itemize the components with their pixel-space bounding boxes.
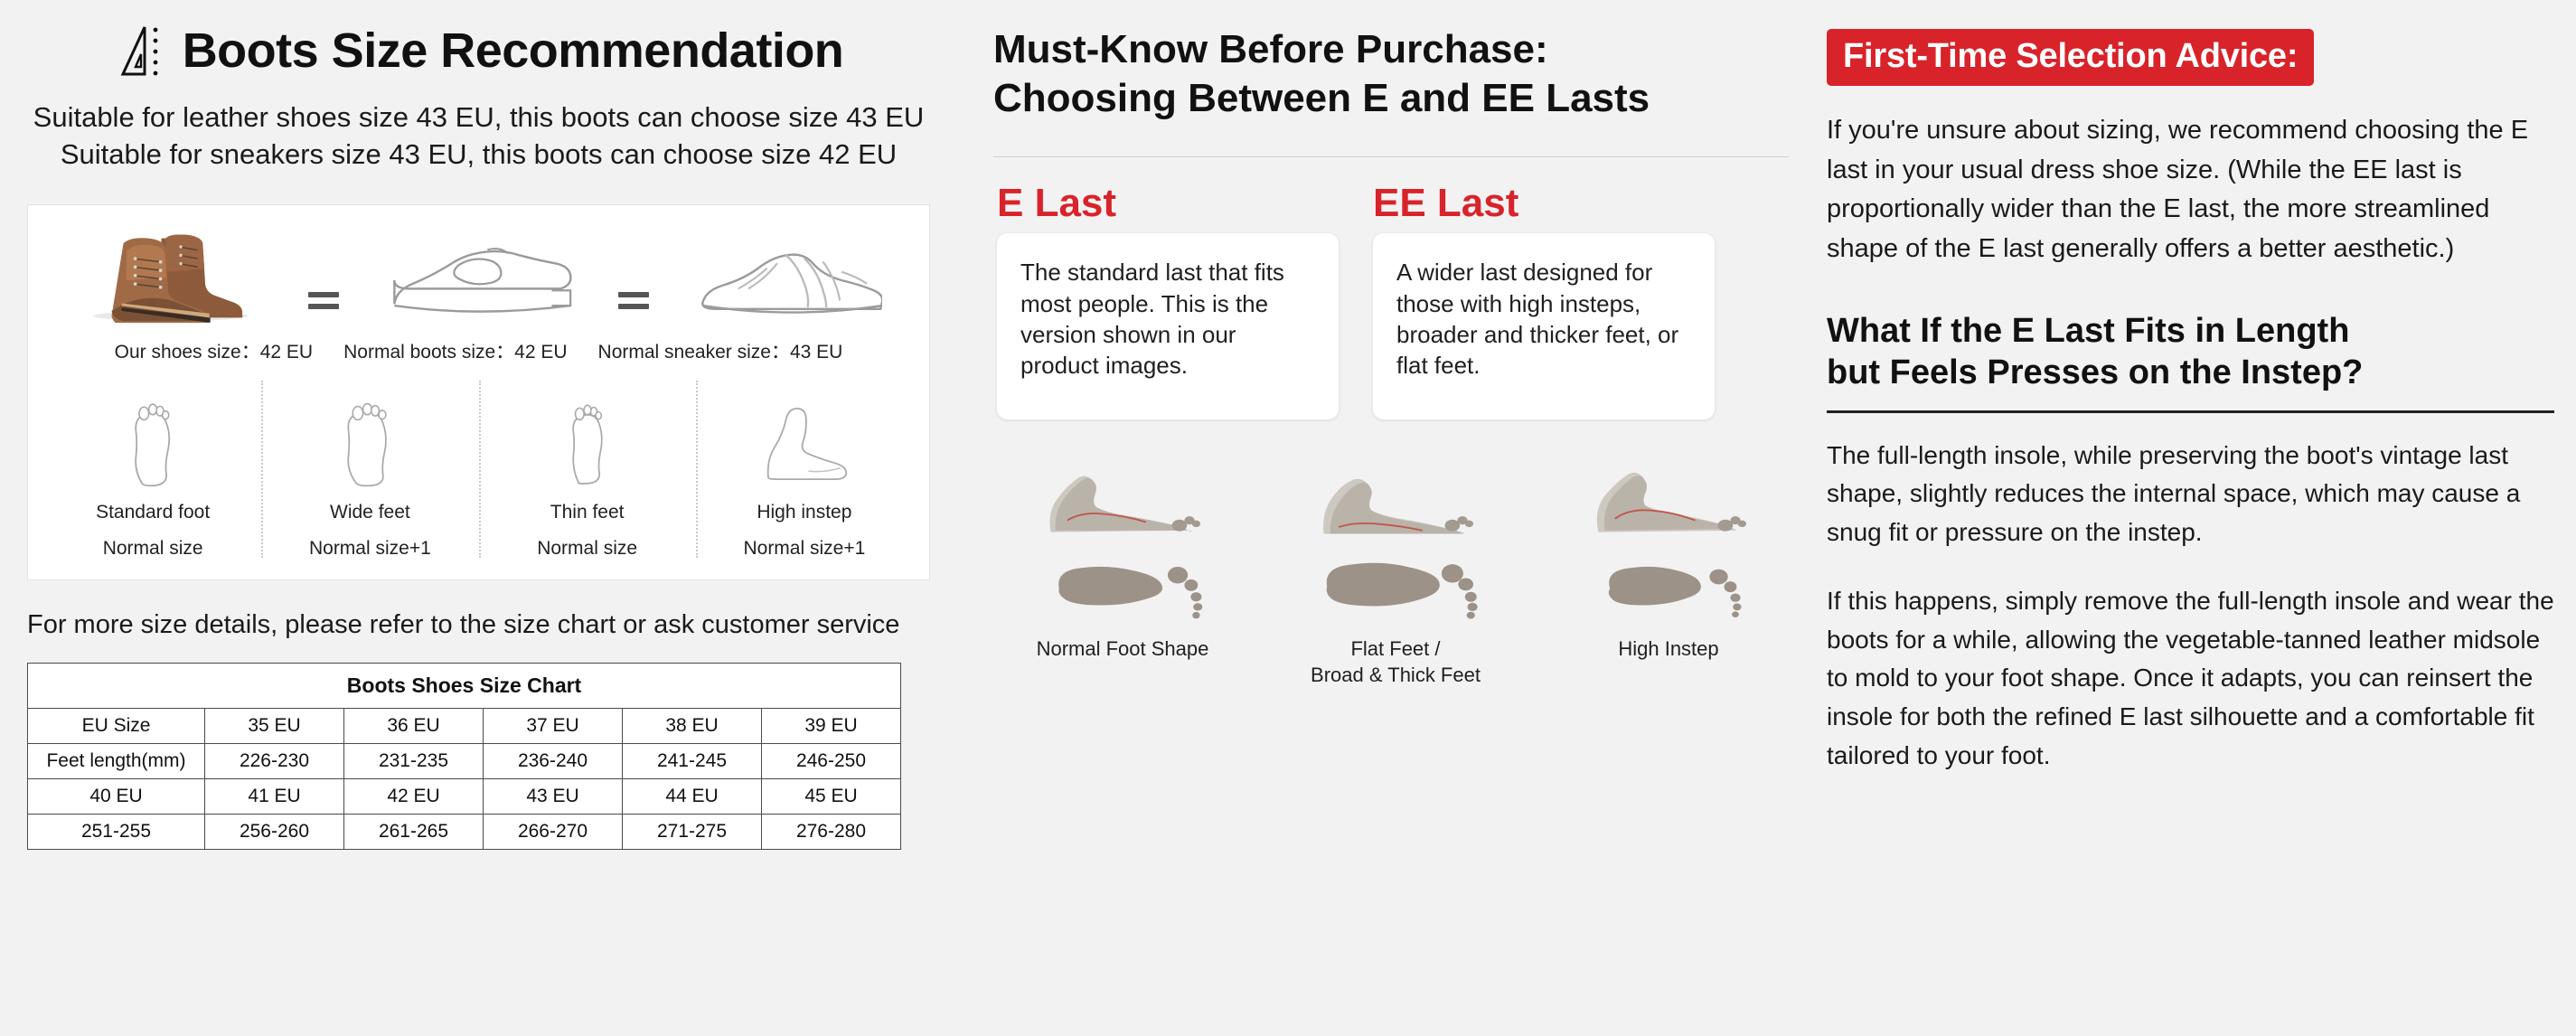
cell-3-0: 251-255 <box>28 815 205 850</box>
cell-2-3: 43 EU <box>484 779 623 815</box>
size-guide-page: Boots Size Recommendation Suitable for l… <box>0 0 2576 1036</box>
cell-1-0: Feet length(mm) <box>28 744 205 779</box>
foot-type-advice-0: Normal size <box>48 538 258 560</box>
shoe-size-caption-1: Normal boots size： <box>343 342 514 363</box>
last-card-e: E Last The standard last that fits most … <box>997 181 1339 419</box>
foot-side-high-instep-icon <box>696 384 913 487</box>
middle-heading-line2: Choosing Between E and EE Lasts <box>993 74 1794 123</box>
ruler-triangle-icon <box>114 22 163 80</box>
foot-sole-high-instep-icon <box>1584 539 1753 622</box>
middle-column: Must-Know Before Purchase: Choosing Betw… <box>981 0 1812 1036</box>
last-comparison-grid: E Last The standard last that fits most … <box>993 181 1794 419</box>
left-header: Boots Size Recommendation <box>13 22 945 80</box>
right-column: First-Time Selection Advice: If you're u… <box>1812 0 2576 1036</box>
size-suggestion-leather: Suitable for leather shoes size 43 EU, t… <box>13 99 945 137</box>
cell-1-5: 246-250 <box>762 744 901 779</box>
equals-sign-1 <box>299 292 348 323</box>
cell-1-1: 226-230 <box>205 744 344 779</box>
status-badge: First-Time Selection Advice: <box>1827 29 2314 86</box>
last-name-e: E Last <box>997 181 1339 226</box>
cell-3-2: 261-265 <box>344 815 484 850</box>
size-suggestion-sneakers: Suitable for sneakers size 43 EU, this b… <box>13 137 945 174</box>
cell-3-3: 266-270 <box>484 815 623 850</box>
cell-2-2: 42 EU <box>344 779 484 815</box>
dress-shoe-outline-icon <box>348 227 610 323</box>
brown-boots-photo <box>37 227 299 323</box>
equals-sign-2 <box>609 292 658 323</box>
foot-figure-flat: Flat Feet / Broad & Thick Feet <box>1288 472 1503 688</box>
footprint-thin-icon <box>479 384 696 487</box>
foot-type-advice-3: Normal size+1 <box>700 538 909 560</box>
sneaker-outline-icon <box>658 227 920 323</box>
cell-0-2: 36 EU <box>344 709 484 744</box>
cell-0-4: 38 EU <box>623 709 762 744</box>
foot-type-name-0: Standard foot <box>48 502 258 523</box>
table-row: Feet length(mm) 226-230 231-235 236-240 … <box>28 744 901 779</box>
cell-3-4: 271-275 <box>623 815 762 850</box>
instep-heading-line2: but Feels Presses on the Instep? <box>1827 352 2554 393</box>
foot-sole-normal-icon <box>1039 539 1207 622</box>
shoe-size-label-0: Our shoes size：42 EU <box>115 337 313 364</box>
last-description-e: The standard last that fits most people.… <box>1020 257 1315 381</box>
cell-1-3: 236-240 <box>484 744 623 779</box>
instep-question-heading: What If the E Last Fits in Length but Fe… <box>1827 310 2554 394</box>
foot-type-advice-1: Normal size+1 <box>265 538 475 560</box>
table-row: 251-255 256-260 261-265 266-270 271-275 … <box>28 815 901 850</box>
page-title: Boots Size Recommendation <box>183 23 844 79</box>
middle-heading-line1: Must-Know Before Purchase: <box>993 25 1794 74</box>
foot-type-0: Standard foot Normal size <box>44 489 261 560</box>
foot-type-1: Wide feet Normal size+1 <box>261 489 478 560</box>
size-chart-title: Boots Shoes Size Chart <box>28 664 901 709</box>
right-divider <box>1827 410 2554 413</box>
foot-figure-caption-normal: Normal Foot Shape <box>1037 636 1209 663</box>
cell-1-4: 241-245 <box>623 744 762 779</box>
caption-line1-high-instep: High Instep <box>1618 636 1718 663</box>
foot-sole-flat-icon <box>1312 539 1480 622</box>
foot-type-2: Thin feet Normal size <box>479 489 696 560</box>
cell-2-0: 40 EU <box>28 779 205 815</box>
cell-0-3: 37 EU <box>484 709 623 744</box>
middle-divider <box>993 156 1789 157</box>
last-description-ee: A wider last designed for those with hig… <box>1396 257 1691 381</box>
size-chart-table: Boots Shoes Size Chart EU Size 35 EU 36 … <box>27 663 901 850</box>
left-column: Boots Size Recommendation Suitable for l… <box>0 0 981 1036</box>
shoe-size-value-1: 42 EU <box>514 342 567 363</box>
cell-0-1: 35 EU <box>205 709 344 744</box>
table-row: EU Size 35 EU 36 EU 37 EU 38 EU 39 EU <box>28 709 901 744</box>
cell-1-2: 231-235 <box>344 744 484 779</box>
caption-line1-normal: Normal Foot Shape <box>1037 636 1209 663</box>
foot-xray-normal-icon <box>1039 472 1207 539</box>
foot-type-name-3: High instep <box>700 502 909 523</box>
cell-0-0: EU Size <box>28 709 205 744</box>
last-name-ee: EE Last <box>1373 181 1715 226</box>
insole-paragraph-1: The full-length insole, while preserving… <box>1827 437 2554 552</box>
caption-line2-flat: Broad & Thick Feet <box>1311 663 1481 689</box>
foot-figure-high-instep: High Instep <box>1561 472 1776 688</box>
shoe-illustration-row <box>28 214 929 323</box>
foot-xray-high-instep-icon <box>1584 472 1753 539</box>
footprint-standard-icon <box>44 384 261 487</box>
cell-2-1: 41 EU <box>205 779 344 815</box>
middle-heading: Must-Know Before Purchase: Choosing Betw… <box>993 25 1794 122</box>
first-time-advice-text: If you're unsure about sizing, we recomm… <box>1827 111 2554 268</box>
shoe-size-caption-0: Our shoes size： <box>115 342 260 363</box>
shoe-size-value-2: 43 EU <box>790 342 842 363</box>
foot-figure-caption-flat: Flat Feet / Broad & Thick Feet <box>1311 636 1481 688</box>
foot-type-illustrations <box>28 379 929 487</box>
last-card-body-e: The standard last that fits most people.… <box>997 233 1339 419</box>
shoe-size-label-1: Normal boots size：42 EU <box>343 337 567 364</box>
foot-type-3: High instep Normal size+1 <box>696 489 913 560</box>
shoe-comparison-panel: Our shoes size：42 EU Normal boots size：4… <box>27 204 930 580</box>
instep-heading-line1: What If the E Last Fits in Length <box>1827 310 2554 352</box>
caption-line1-flat: Flat Feet / <box>1311 636 1481 663</box>
cell-3-5: 276-280 <box>762 815 901 850</box>
insole-paragraph-2: If this happens, simply remove the full-… <box>1827 582 2554 775</box>
foot-figure-normal: Normal Foot Shape <box>1015 472 1230 688</box>
cell-2-4: 44 EU <box>623 779 762 815</box>
foot-type-name-1: Wide feet <box>265 502 475 523</box>
last-card-body-ee: A wider last designed for those with hig… <box>1373 233 1715 419</box>
foot-shape-figures: Normal Foot Shape <box>1015 472 1776 688</box>
cell-2-5: 45 EU <box>762 779 901 815</box>
shoe-size-label-2: Normal sneaker size：43 EU <box>598 337 843 364</box>
last-card-ee: EE Last A wider last designed for those … <box>1373 181 1715 419</box>
foot-type-name-2: Thin feet <box>483 502 692 523</box>
footprint-wide-icon <box>261 384 478 487</box>
foot-type-advice-2: Normal size <box>483 538 692 560</box>
shoe-size-caption-2: Normal sneaker size： <box>598 342 790 363</box>
size-suggestion-text: Suitable for leather shoes size 43 EU, t… <box>13 99 945 174</box>
size-details-note: For more size details, please refer to t… <box>27 607 932 643</box>
cell-3-1: 256-260 <box>205 815 344 850</box>
shoe-size-value-0: 42 EU <box>260 342 313 363</box>
foot-figure-caption-high-instep: High Instep <box>1618 636 1718 663</box>
table-row: 40 EU 41 EU 42 EU 43 EU 44 EU 45 EU <box>28 779 901 815</box>
cell-0-5: 39 EU <box>762 709 901 744</box>
shoe-size-labels: Our shoes size：42 EU Normal boots size：4… <box>28 323 929 379</box>
foot-xray-flat-icon <box>1312 472 1480 539</box>
